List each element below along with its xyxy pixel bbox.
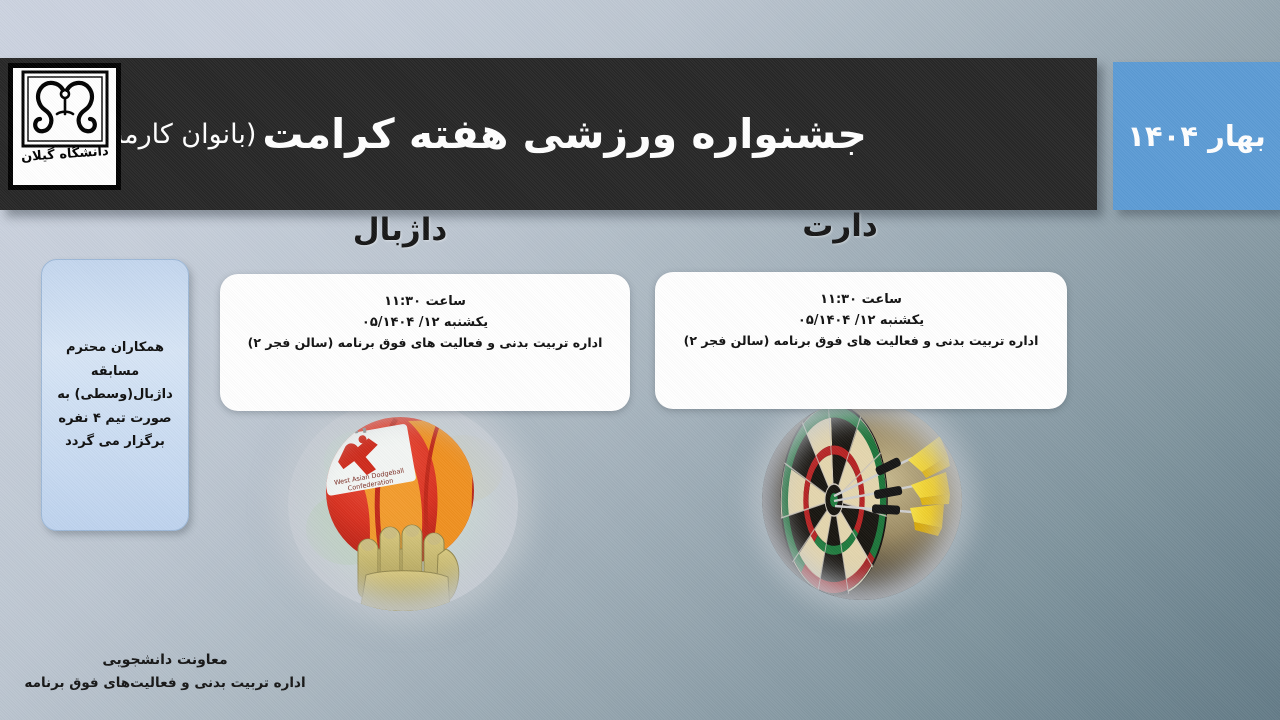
footer-line-1: معاونت دانشجویی [0, 648, 330, 673]
event-date-dodgeball: یکشنبه ۱۲/ ۰۵/۱۴۰۴ [236, 313, 614, 334]
header-bar: جشنواره ورزشی هفته کرامت (بانوان کارمند) [0, 58, 1097, 210]
event-card-darts: ساعت ۱۱:۳۰ یکشنبه ۱۲/ ۰۵/۱۴۰۴ اداره تربی… [655, 272, 1067, 409]
note-box-text: همکاران محترم مسابقه داژبال(وسطی) به صور… [54, 336, 176, 454]
event-venue-darts: اداره تربیت بدنی و فعالیت های فوق برنامه… [671, 331, 1051, 351]
page-title-main: جشنواره ورزشی هفته کرامت [262, 110, 867, 158]
event-card-dodgeball: ساعت ۱۱:۳۰ یکشنبه ۱۲/ ۰۵/۱۴۰۴ اداره تربی… [220, 274, 630, 411]
season-badge: بهار ۱۴۰۴ [1113, 62, 1280, 210]
university-logo-inner: دانشگاه گیلان [13, 68, 116, 185]
guilan-emblem-icon [19, 68, 111, 150]
event-time-dodgeball: ساعت ۱۱:۳۰ [236, 292, 614, 313]
event-time-darts: ساعت ۱۱:۳۰ [671, 290, 1051, 311]
sport-heading-darts-label: دارت [802, 208, 878, 244]
footer-line-2: اداره تربیت بدنی و فعالیت‌های فوق برنامه [0, 672, 330, 696]
note-box: همکاران محترم مسابقه داژبال(وسطی) به صور… [41, 259, 189, 531]
sport-heading-dodgeball-label: داژبال [353, 212, 448, 248]
university-logo: دانشگاه گیلان [8, 63, 121, 190]
event-venue-dodgeball: اداره تربیت بدنی و فعالیت های فوق برنامه… [236, 333, 614, 353]
dartboard-illustration-icon [762, 400, 962, 600]
event-date-darts: یکشنبه ۱۲/ ۰۵/۱۴۰۴ [671, 311, 1051, 332]
sport-heading-darts: دارت [730, 208, 950, 244]
dodgeball-photo: West Asian Dodgeball Confederation [288, 399, 518, 611]
sport-heading-dodgeball: داژبال [290, 212, 510, 248]
dartboard-photo [762, 400, 962, 600]
poster-slide: جشنواره ورزشی هفته کرامت (بانوان کارمند)… [0, 0, 1280, 720]
dodgeball-illustration-icon: West Asian Dodgeball Confederation [288, 399, 518, 611]
footer: معاونت دانشجویی اداره تربیت بدنی و فعالی… [0, 648, 330, 696]
page-title: جشنواره ورزشی هفته کرامت (بانوان کارمند) [120, 58, 867, 210]
season-badge-label: بهار ۱۴۰۴ [1127, 119, 1266, 153]
